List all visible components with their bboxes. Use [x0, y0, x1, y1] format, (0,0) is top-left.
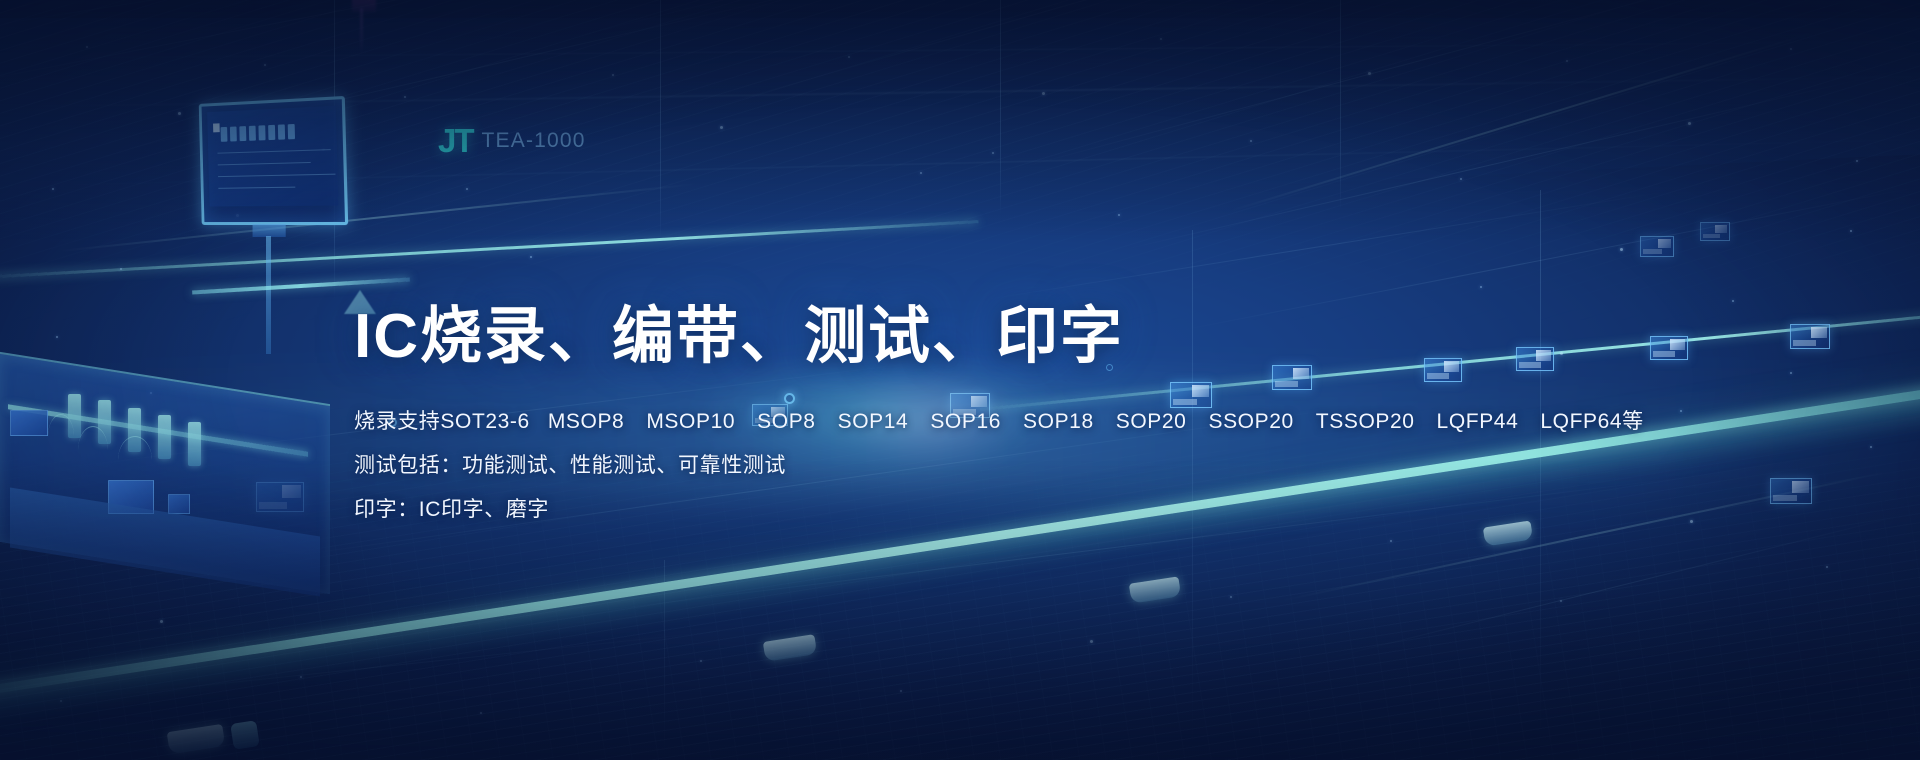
- package-item: MSOP8: [548, 411, 625, 432]
- package-list: MSOP8MSOP10SOP8SOP14SOP16SOP18SOP20SSOP2…: [548, 410, 1644, 433]
- package-item: MSOP10: [646, 411, 735, 432]
- banner-subtext: 烧录支持SOT23-6MSOP8MSOP10SOP8SOP14SOP16SOP1…: [354, 411, 1674, 520]
- test-scope-line: 测试包括：功能测试、性能测试、可靠性测试: [354, 455, 1674, 476]
- banner-copy: IC烧录、编带、测试、印字 烧录支持SOT23-6MSOP8MSOP10SOP8…: [354, 304, 1674, 520]
- package-item: SOP8: [757, 411, 815, 432]
- package-item: SOP18: [1023, 411, 1094, 432]
- package-support-line: 烧录支持SOT23-6MSOP8MSOP10SOP8SOP14SOP16SOP1…: [354, 411, 1674, 432]
- ic-service-banner: JT TEA-1000 IC烧录、编带、测试、印字 烧录支持SOT23-6MSO…: [0, 0, 1920, 760]
- package-item: SOP20: [1116, 411, 1187, 432]
- printing-scope-line: 印字：IC印字、磨字: [354, 499, 1674, 520]
- page-title: IC烧录、编带、测试、印字: [354, 304, 1674, 371]
- package-item: SSOP20: [1208, 411, 1293, 432]
- package-item: LQFP44: [1437, 411, 1519, 432]
- package-item: TSSOP20: [1316, 411, 1415, 432]
- package-item: LQFP64等: [1540, 411, 1643, 432]
- package-support-lead: 烧录支持SOT23-6: [354, 411, 530, 432]
- package-item: SOP14: [838, 411, 909, 432]
- package-item: SOP16: [930, 411, 1001, 432]
